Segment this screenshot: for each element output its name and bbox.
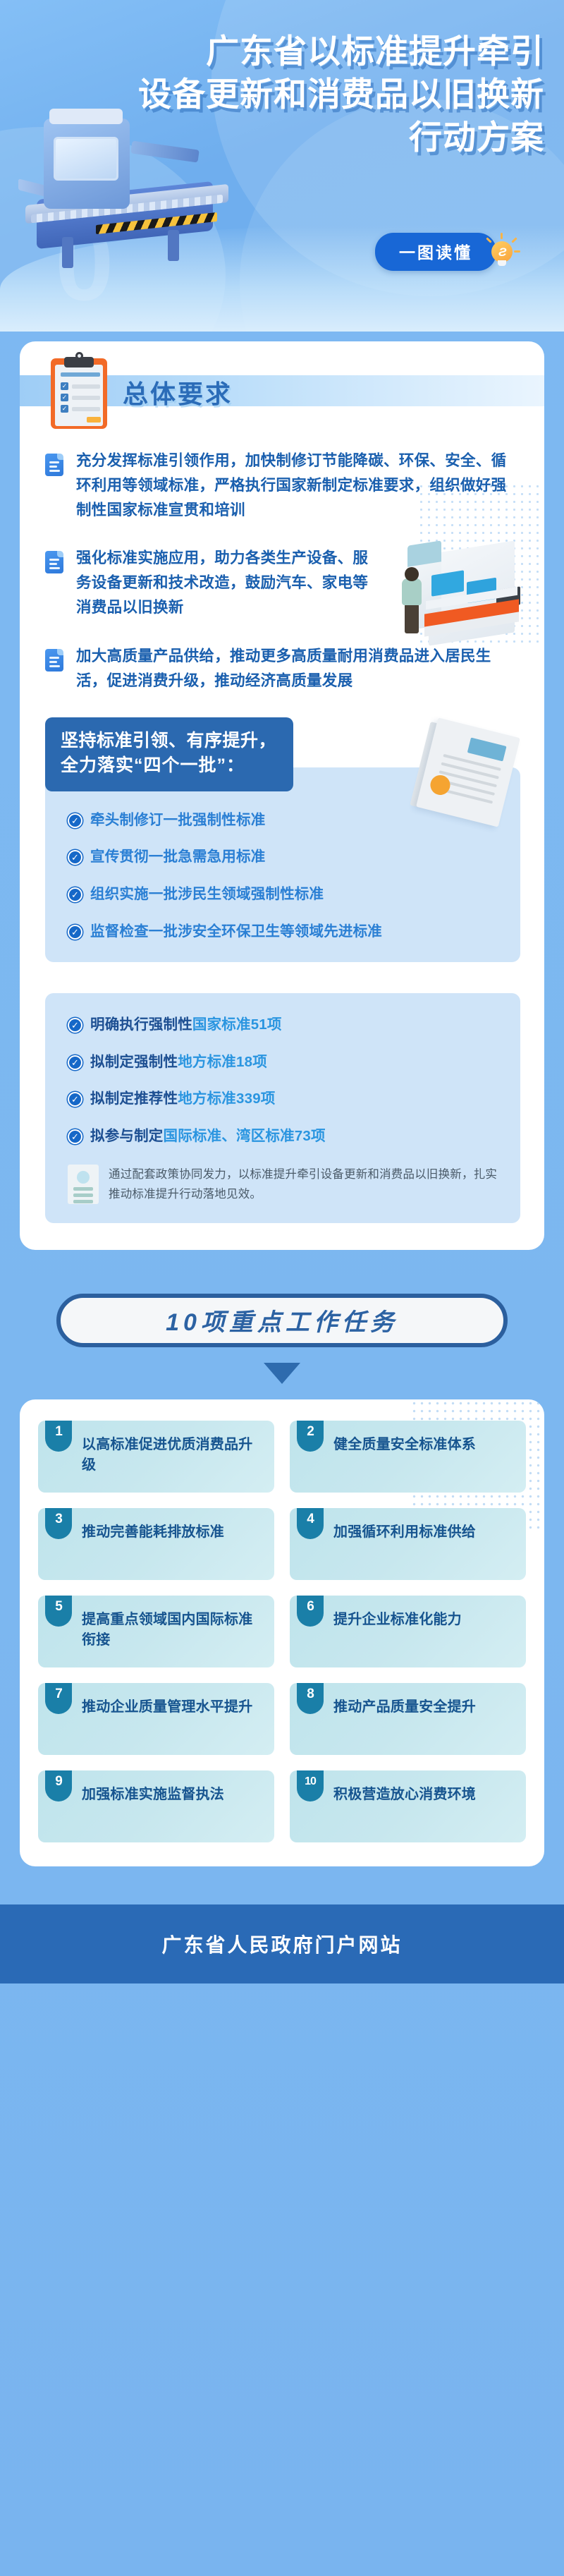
task-card-label: 积极营造放心消费环境 [333,1785,515,1805]
task-card-label: 加强循环利用标准供给 [333,1522,515,1543]
task-card-label: 推动产品质量安全提升 [333,1697,515,1718]
four-batches-heading-wrap: 坚持标准引领、有序提升， 全力落实“四个一批”： [45,717,520,791]
task-card-9[interactable]: 9 加强标准实施监督执法 [38,1770,274,1842]
note-icon [68,1165,99,1204]
task-card-8[interactable]: 8 推动产品质量安全提升 [290,1683,526,1755]
task-card-2[interactable]: 2 健全质量安全标准体系 [290,1421,526,1493]
four-batches-heading: 坚持标准引领、有序提升， 全力落实“四个一批”： [45,717,293,791]
task-card-label: 以高标准促进优质消费品升级 [82,1435,263,1476]
stat-item-4: 拟参与制定国际标准、湾区标准73项 [90,1127,326,1146]
hero-title-group: 广东省以标准提升牵引 设备更新和消费品以旧换新 行动方案 [138,30,544,159]
badge-label: 一图读懂 [375,233,496,271]
task-card-label: 推动企业质量管理水平提升 [82,1697,263,1718]
section-title: 总体要求 [123,374,233,411]
task-card-label: 推动完善能耗排放标准 [82,1522,263,1543]
task-number-badge: 2 [297,1421,324,1452]
check-circle-icon: ✓ [68,1055,82,1070]
task-number-badge: 10 [297,1770,324,1802]
hero-title-line-2: 设备更新和消费品以旧换新 [138,73,544,116]
document-icon [45,454,66,478]
tasks-banner-title: 10项重点工作任务 [166,1303,398,1337]
machine-leg-left [62,237,73,268]
standards-count-list: ✓ 明确执行强制性国家标准51项 ✓ 拟制定强制性地方标准18项 ✓ 拟制定推荐… [45,993,520,1222]
overview-paragraph-1: 充分发挥标准引领作用，加快制修订节能降碳、环保、安全、循环利用等领域标准，严格执… [20,449,544,522]
list-item: ✓ 拟制定强制性地方标准18项 [68,1053,503,1072]
task-number-badge: 7 [45,1683,72,1714]
check-circle-icon: ✓ [68,1129,82,1144]
appliance-store-illustration [384,542,525,655]
stat-item-3: 拟制定推荐性地方标准339项 [90,1090,276,1109]
four-batches-item-3: 组织实施一批涉民生领域强制性标准 [90,885,324,904]
footer-label: 广东省人民政府门户网站 [161,1930,402,1958]
task-card-label: 提升企业标准化能力 [333,1610,515,1630]
task-card-10[interactable]: 10 积极营造放心消费环境 [290,1770,526,1842]
overview-paragraph-3-text: 加大高质量产品供给，推动更多高质量耐用消费品进入居民生活，促进消费升级，推动经济… [76,644,520,693]
list-item: ✓ 监督检查一批涉安全环保卫生等领域先进标准 [68,923,503,942]
clipboard-icon: ✓ ✓ ✓ [51,358,107,429]
overview-paragraph-3: 加大高质量产品供给，推动更多高质量耐用消费品进入居民生活，促进消费升级，推动经济… [20,644,544,693]
tasks-grid: 1 以高标准促进优质消费品升级 2 健全质量安全标准体系 3 推动完善能耗排放标… [38,1421,526,1842]
tasks-grid-panel: 1 以高标准促进优质消费品升级 2 健全质量安全标准体系 3 推动完善能耗排放标… [20,1399,544,1866]
machine-top-panel [49,109,123,124]
task-card-4[interactable]: 4 加强循环利用标准供给 [290,1508,526,1580]
four-batches-heading-line-1: 坚持标准引领、有序提升， [61,729,276,754]
task-card-3[interactable]: 3 推动完善能耗排放标准 [38,1508,274,1580]
task-number-badge: 6 [297,1596,324,1627]
document-icon [45,649,66,673]
list-item: ✓ 拟参与制定国际标准、湾区标准73项 [68,1127,503,1146]
overview-paragraph-2: 强化标准实施应用，助力各类生产设备、服务设备更新和技术改造，鼓励汽车、家电等消费… [20,546,544,619]
document-icon [45,551,66,575]
hero-title-line-3: 行动方案 [138,116,544,159]
check-circle-icon: ✓ [68,1018,82,1033]
four-batches-heading-line-2: 全力落实“四个一批”： [61,753,276,779]
footer-bar: 广东省人民政府门户网站 [0,1904,564,1983]
task-card-7[interactable]: 7 推动企业质量管理水平提升 [38,1683,274,1755]
task-card-label: 提高重点领域国内国际标准衔接 [82,1610,263,1651]
tasks-banner: 10项重点工作任务 [56,1294,508,1347]
read-in-one-picture-badge[interactable]: 一图读懂 Ƨ [375,233,517,271]
list-item: ✓ 明确执行强制性国家标准51项 [68,1016,503,1035]
machine-leg-right [168,230,179,261]
stat-item-2: 拟制定强制性地方标准18项 [90,1053,267,1072]
overview-paragraph-1-text: 充分发挥标准引领作用，加快制修订节能降碳、环保、安全、循环利用等领域标准，严格执… [76,449,520,522]
check-circle-icon: ✓ [68,925,82,940]
task-number-badge: 1 [45,1421,72,1452]
task-card-5[interactable]: 5 提高重点领域国内国际标准衔接 [38,1596,274,1667]
task-number-badge: 5 [45,1596,72,1627]
list-item: ✓ 宣传贯彻一批急需急用标准 [68,848,503,867]
list-item: ✓ 拟制定推荐性地方标准339项 [68,1090,503,1109]
four-batches-item-1: 牵头制修订一批强制性标准 [90,811,265,830]
overview-section-header: ✓ ✓ ✓ 总体要求 [20,348,544,430]
task-number-badge: 4 [297,1508,324,1539]
task-card-label: 健全质量安全标准体系 [333,1435,515,1455]
task-number-badge: 3 [45,1508,72,1539]
hero-title-line-1: 广东省以标准提升牵引 [138,30,544,73]
lightbulb-icon: Ƨ [485,236,517,268]
down-arrow-icon [264,1363,300,1384]
machine-window [54,137,118,181]
task-card-label: 加强标准实施监督执法 [82,1785,263,1805]
check-circle-icon: ✓ [68,1092,82,1107]
four-batches-list: ✓ 牵头制修订一批强制性标准 ✓ 宣传贯彻一批急需急用标准 ✓ 组织实施一批涉民… [45,767,520,963]
task-card-6[interactable]: 6 提升企业标准化能力 [290,1596,526,1667]
infographic-page: 0 广东省以标准提升牵引 设备更新和消费品以旧换新 行动方案 一图读懂 Ƨ [0,0,564,2576]
check-circle-icon: ✓ [68,850,82,865]
stat-item-1: 明确执行强制性国家标准51项 [90,1016,282,1035]
check-circle-icon: ✓ [68,887,82,902]
hero-banner: 0 广东省以标准提升牵引 设备更新和消费品以旧换新 行动方案 一图读懂 Ƨ [0,0,564,332]
overview-footnote: 通过配套政策协同发力，以标准提升牵引设备更新和消费品以旧换新，扎实推动标准提升行… [68,1165,503,1205]
list-item: ✓ 组织实施一批涉民生领域强制性标准 [68,885,503,904]
four-batches-item-2: 宣传贯彻一批急需急用标准 [90,848,265,867]
check-circle-icon: ✓ [68,813,82,828]
overview-footnote-text: 通过配套政策协同发力，以标准提升牵引设备更新和消费品以旧换新，扎实推动标准提升行… [109,1165,503,1205]
list-item: ✓ 牵头制修订一批强制性标准 [68,811,503,830]
four-batches-item-4: 监督检查一批涉安全环保卫生等领域先进标准 [90,923,382,942]
overview-paragraph-2-text: 强化标准实施应用，助力各类生产设备、服务设备更新和技术改造，鼓励汽车、家电等消费… [76,546,379,619]
overview-panel: ✓ ✓ ✓ 总体要求 充分发挥标准引领作用，加快制修订节能降碳、环保、安全、循环… [20,341,544,1250]
task-card-1[interactable]: 1 以高标准促进优质消费品升级 [38,1421,274,1493]
task-number-badge: 8 [297,1683,324,1714]
task-number-badge: 9 [45,1770,72,1802]
